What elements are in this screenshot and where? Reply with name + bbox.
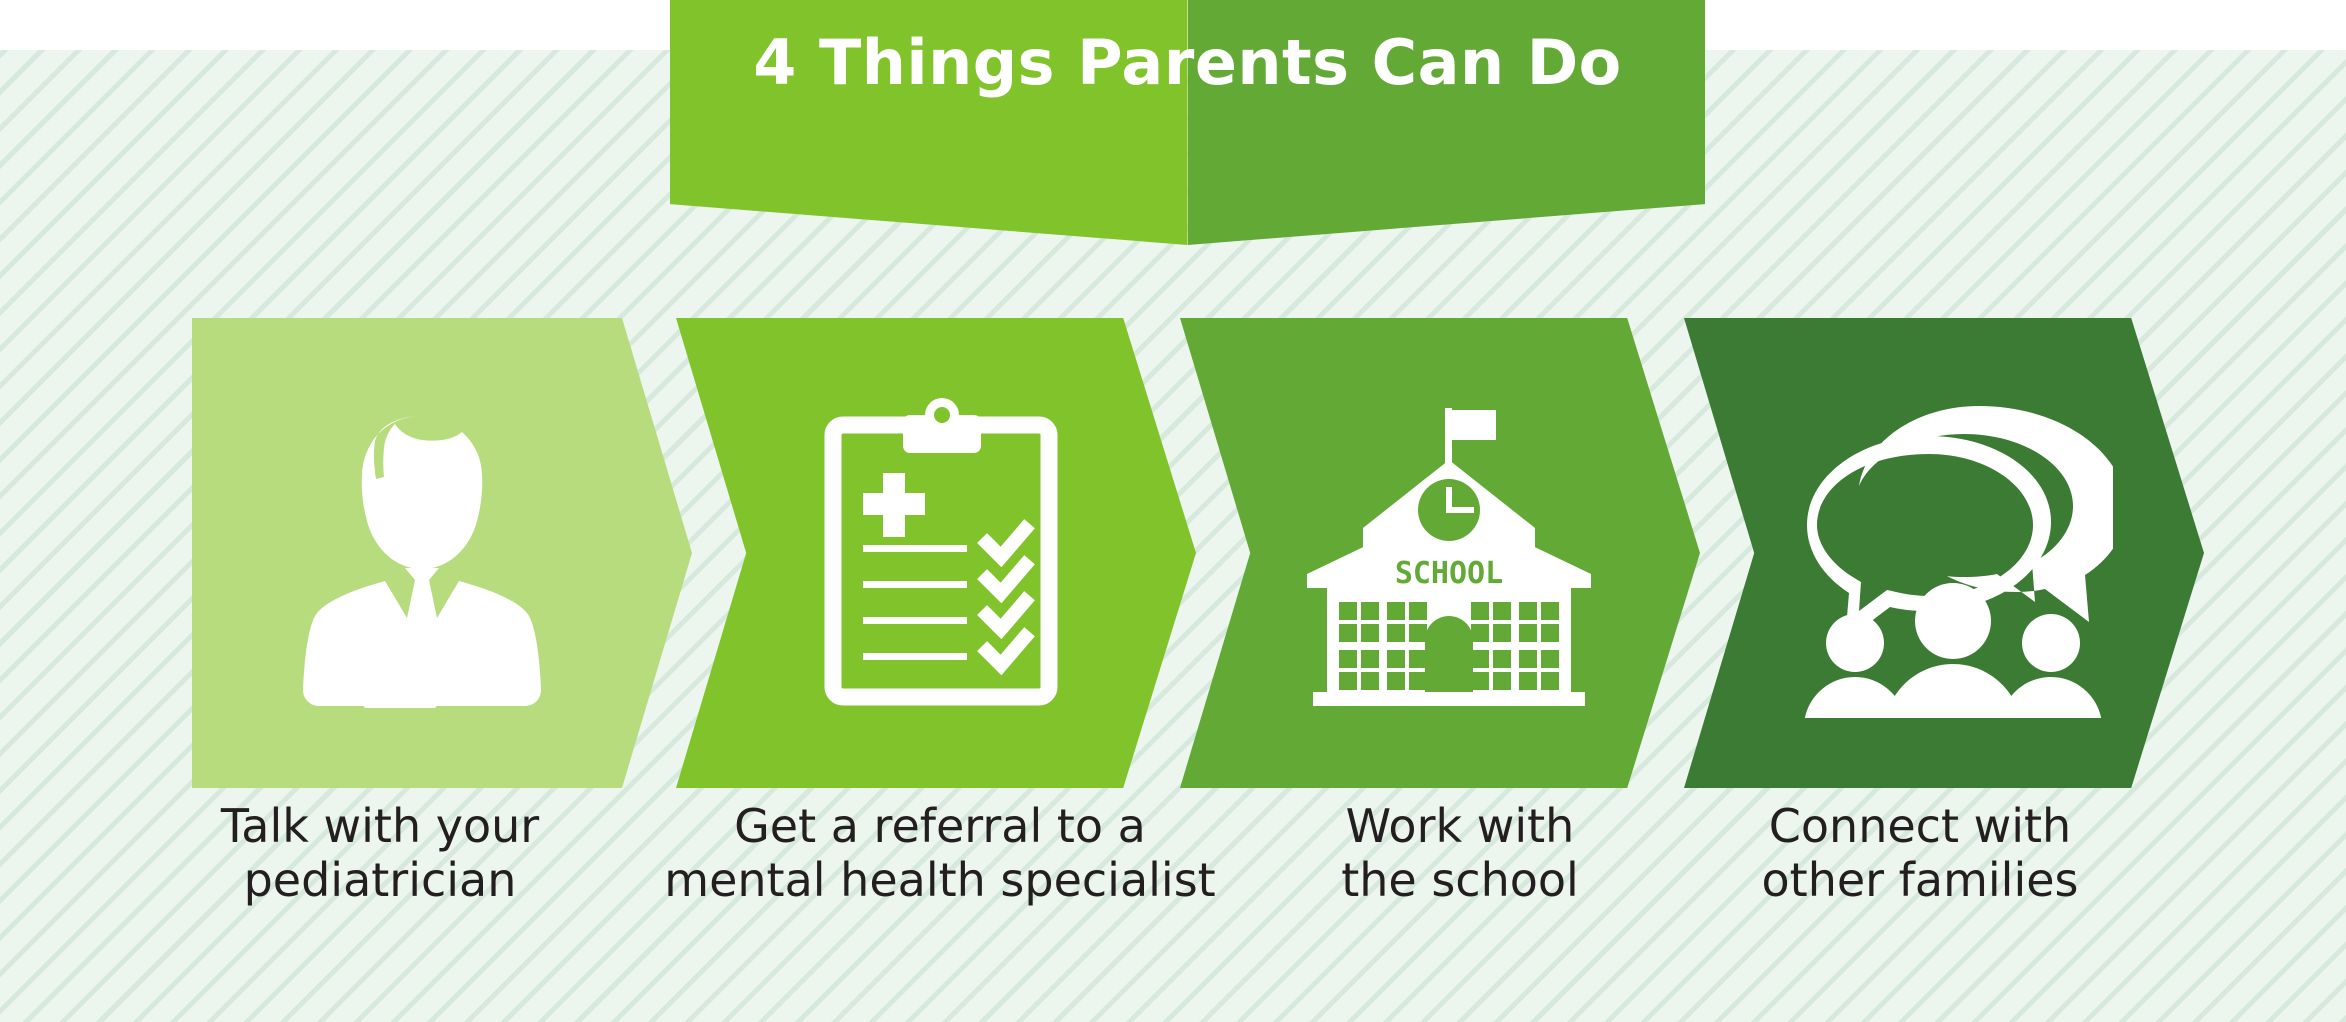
caption-line: Talk with your [170, 800, 590, 854]
caption-line: pediatrician [170, 854, 590, 908]
step-caption-4: Connect with other families [1690, 800, 2150, 908]
school-building-icon: SCHOOL [1289, 388, 1609, 718]
caption-line: other families [1690, 854, 2150, 908]
caption-line: the school [1250, 854, 1670, 908]
title-banner: 4 Things Parents Can Do [670, 0, 1705, 245]
clipboard-checklist-icon [781, 388, 1101, 718]
steps-row: SCHOOL [0, 318, 2346, 788]
caption-line: Work with [1250, 800, 1670, 854]
caption-line: Connect with [1690, 800, 2150, 854]
step-chevron-1[interactable] [192, 318, 692, 788]
doctor-icon [262, 388, 582, 718]
caption-line: mental health specialist [620, 854, 1260, 908]
step-chevron-3[interactable]: SCHOOL [1180, 318, 1700, 788]
people-speech-bubbles-icon [1793, 388, 2113, 718]
step-caption-2: Get a referral to a mental health specia… [620, 800, 1260, 908]
page-title: 4 Things Parents Can Do [670, 26, 1705, 99]
step-caption-3: Work with the school [1250, 800, 1670, 908]
infographic-canvas: 4 Things Parents Can Do [0, 0, 2346, 1022]
step-chevron-4[interactable] [1684, 318, 2204, 788]
caption-line: Get a referral to a [620, 800, 1260, 854]
step-chevron-2[interactable] [676, 318, 1196, 788]
step-caption-1: Talk with your pediatrician [170, 800, 590, 908]
school-sign-text: SCHOOL [1395, 556, 1503, 591]
